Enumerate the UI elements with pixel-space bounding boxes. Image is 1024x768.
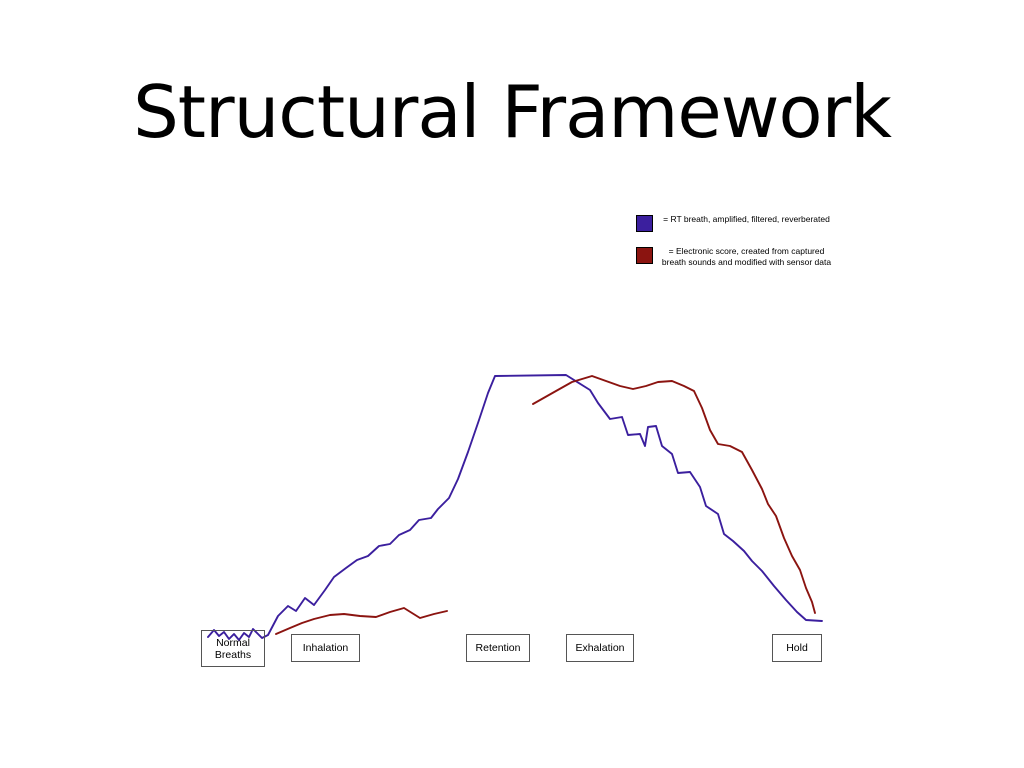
phase-label-text: Hold [786, 642, 808, 654]
phase-label-exhalation[interactable]: Exhalation [566, 634, 634, 662]
phase-label-inhalation[interactable]: Inhalation [291, 634, 360, 662]
series-line-electronic-score-segment-1 [276, 608, 447, 634]
phase-label-retention[interactable]: Retention [466, 634, 530, 662]
phase-label-text: NormalBreaths [215, 637, 251, 661]
phase-label-hold[interactable]: Hold [772, 634, 822, 662]
phase-label-text: Inhalation [303, 642, 349, 654]
series-line-rt-breath [208, 375, 822, 640]
series-line-electronic-score-segment-2 [533, 376, 815, 613]
phase-label-text: Retention [476, 642, 521, 654]
phase-label-text: Exhalation [575, 642, 624, 654]
phase-label-normal-breaths[interactable]: NormalBreaths [201, 630, 265, 667]
